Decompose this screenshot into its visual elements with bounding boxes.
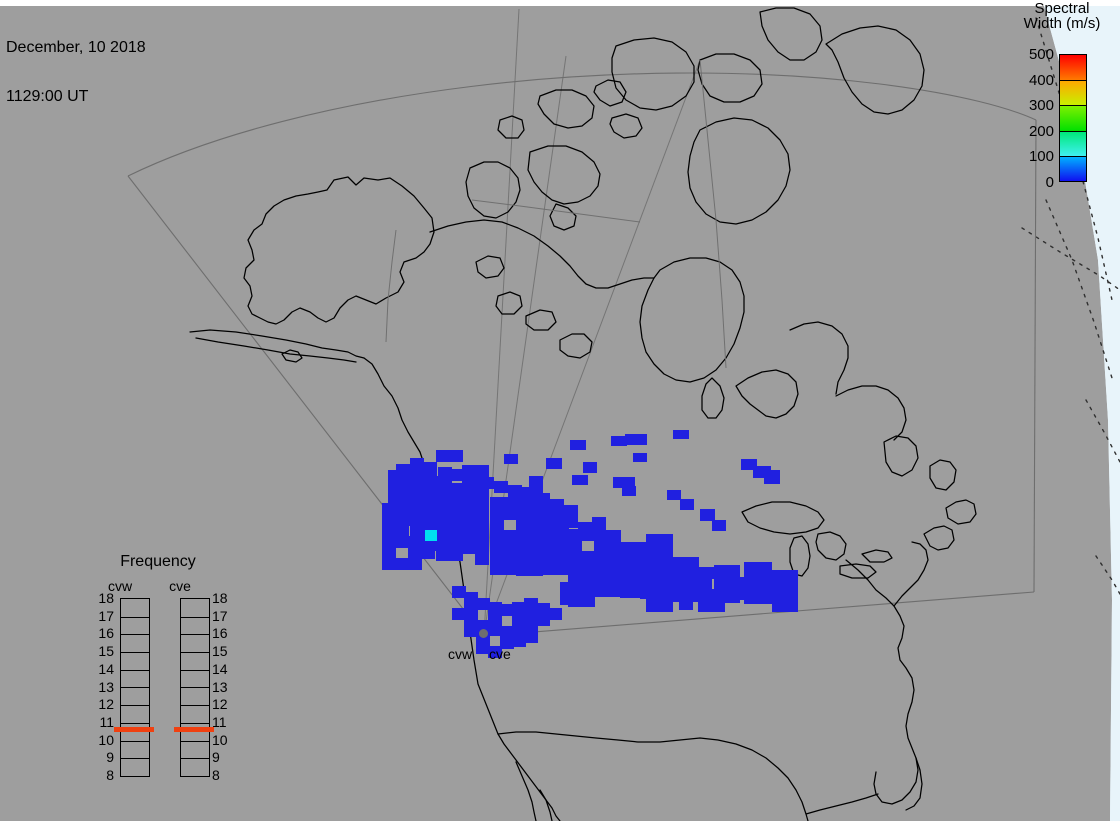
radar-data-cell [410, 469, 424, 481]
radar-data-cell [555, 530, 569, 542]
radar-data-cell [570, 440, 586, 450]
radar-data-cell [698, 578, 712, 590]
radar-data-cell [578, 522, 592, 534]
radar-data-cell [382, 558, 396, 570]
frequency-tick-16: 16 [88, 626, 114, 640]
radar-data-cell [516, 553, 530, 565]
radar-data-cell [500, 626, 514, 638]
radar-data-cell [620, 564, 634, 576]
radar-data-cell [475, 542, 489, 554]
radar-data-cell [667, 490, 681, 500]
radar-data-cell [382, 514, 396, 526]
radar-data-cell [679, 587, 693, 599]
radar-data-cell [452, 608, 466, 620]
colorbar-segment-0-100 [1060, 156, 1086, 181]
radar-data-cell [449, 494, 463, 506]
radar-data-cell [462, 531, 476, 543]
radar-data-cell [421, 503, 435, 515]
radar-data-cell [449, 549, 463, 561]
radar-data-cell [524, 598, 538, 610]
frequency-cell [181, 670, 209, 688]
radar-data-cell [673, 430, 689, 439]
radar-data-cell [424, 476, 438, 488]
radar-data-cell [490, 497, 504, 509]
radar-data-cell [555, 541, 569, 553]
radar-data-cell [410, 458, 424, 470]
radar-data-cell [494, 481, 508, 493]
radar-data-cell [410, 517, 424, 529]
radar-data-cell [625, 434, 647, 445]
radar-data-cell [436, 505, 450, 517]
radar-data-cell [449, 527, 463, 539]
radar-data-cell [546, 458, 562, 469]
radar-data-cell [503, 541, 517, 553]
radar-data-cell [396, 464, 410, 476]
frequency-cell [121, 599, 149, 617]
radar-data-cell [542, 530, 556, 542]
radar-data-cell [480, 477, 494, 489]
radar-data-cell [490, 552, 504, 564]
radar-data-cell [408, 547, 422, 559]
colorbar-tick-200: 200 [1004, 124, 1054, 139]
radar-data-cell [640, 587, 654, 599]
frequency-cell [121, 652, 149, 670]
radar-data-cell [712, 520, 726, 531]
radar-data-cell [490, 563, 504, 575]
frequency-tick-11: 11 [88, 715, 114, 729]
radar-data-cell [516, 520, 530, 532]
colorbar-segment-300-400 [1060, 80, 1086, 105]
colorbar-segment-100-200 [1060, 131, 1086, 156]
frequency-cell [181, 741, 209, 759]
radar-data-cell [395, 492, 409, 504]
radar-data-cell [542, 552, 556, 564]
radar-data-cell [594, 541, 608, 553]
frequency-tick-17: 17 [88, 609, 114, 623]
radar-data-cell [653, 598, 667, 610]
radar-data-cell [529, 531, 543, 543]
colorbar-tick-100: 100 [1004, 149, 1054, 164]
radar-data-cell [607, 541, 621, 553]
radar-data-cell [536, 504, 550, 516]
radar-data-cell [592, 528, 606, 540]
radar-data-cell [382, 536, 396, 548]
radar-data-cell [503, 508, 517, 520]
radar-data-cell [475, 498, 489, 510]
radar-site-dot [479, 629, 488, 638]
radar-data-cell [536, 614, 550, 626]
frequency-tick-14: 14 [88, 662, 114, 676]
radar-data-cell [698, 567, 712, 579]
radar-data-cell [503, 563, 517, 575]
radar-data-cell [594, 585, 608, 597]
frequency-tick-15: 15 [212, 644, 238, 658]
frequency-legend-panel: Frequency cvw cve 18171615141312111098 1… [78, 553, 238, 791]
radar-data-cell [382, 503, 396, 515]
radar-data-cell [395, 558, 409, 570]
frequency-ticks-right: 18171615141312111098 [212, 598, 238, 775]
frequency-tick-9: 9 [212, 750, 238, 764]
colorbar-segment-400-500 [1060, 55, 1086, 80]
radar-data-cell [572, 475, 588, 485]
radar-data-cell [633, 553, 647, 565]
radar-data-cell [512, 624, 526, 636]
radar-data-cell [476, 598, 490, 610]
radar-data-cell [564, 505, 578, 517]
radar-data-cell [462, 509, 476, 521]
radar-data-cell [659, 556, 673, 568]
frequency-tick-9: 9 [88, 750, 114, 764]
radar-data-cell [581, 551, 595, 563]
radar-data-cell [503, 530, 517, 542]
radar-data-cell [646, 556, 660, 568]
frequency-cell [121, 741, 149, 759]
radar-data-cell [633, 564, 647, 576]
frequency-tick-13: 13 [212, 680, 238, 694]
radar-data-cell [503, 552, 517, 564]
radar-data-cell [423, 517, 437, 529]
radar-data-cell [698, 600, 712, 612]
radar-data-cell [620, 542, 634, 554]
radar-data-cell [438, 478, 452, 490]
radar-data-cell [679, 598, 693, 610]
radar-data-cell [560, 582, 574, 594]
radar-data-cell [679, 576, 693, 588]
timestamp-time: 1129:00 UT [6, 89, 146, 105]
radar-data-cell [607, 552, 621, 564]
frequency-cell [181, 617, 209, 635]
colorbar-tick-500: 500 [1004, 47, 1054, 62]
frequency-cell [121, 617, 149, 635]
radar-data-cell [464, 592, 478, 604]
radar-data-cell [436, 450, 450, 462]
colorbar-gradient-bar [1059, 54, 1087, 182]
radar-data-cell [522, 489, 536, 501]
radar-data-cell [633, 542, 647, 554]
radar-data-cell [672, 557, 686, 569]
radar-data-cell [594, 563, 608, 575]
radar-data-cell [476, 642, 490, 654]
radar-data-cell [462, 542, 476, 554]
radar-data-cell [524, 609, 538, 621]
frequency-tick-8: 8 [88, 768, 114, 782]
colorbar-title-line1: Spectral [1004, 1, 1120, 16]
radar-data-cell [408, 503, 422, 515]
radar-data-cell [633, 453, 647, 462]
frequency-cell [181, 758, 209, 776]
radar-data-cell [607, 574, 621, 586]
radar-data-cell [666, 587, 680, 599]
frequency-ticks-left: 18171615141312111098 [88, 598, 114, 775]
radar-data-cell [542, 541, 556, 553]
radar-data-cell [395, 514, 409, 526]
radar-data-cell [594, 552, 608, 564]
frequency-cell [181, 705, 209, 723]
radar-data-cell [475, 531, 489, 543]
radar-data-cell [464, 603, 478, 615]
radar-data-cell [594, 574, 608, 586]
radar-data-cell [466, 473, 480, 485]
radar-data-cell [607, 585, 621, 597]
frequency-column-header-cve: cve [157, 578, 203, 594]
radar-data-cell [653, 587, 667, 599]
radar-data-cell [395, 525, 409, 537]
frequency-cell [121, 705, 149, 723]
radar-data-cell [764, 470, 780, 484]
radar-data-cell [572, 589, 586, 601]
radar-data-cell [583, 462, 597, 473]
radar-data-cell [653, 576, 667, 588]
frequency-tick-13: 13 [88, 680, 114, 694]
radar-data-cell [449, 450, 463, 462]
radar-data-cell [529, 564, 543, 576]
radar-data-cell [524, 620, 538, 632]
radar-data-cell [436, 516, 450, 528]
radar-data-cell [490, 530, 504, 542]
radar-data-cell [568, 562, 582, 574]
colorbar-title-line2: Width (m/s) [1004, 16, 1120, 31]
radar-data-cell [516, 531, 530, 543]
radar-data-cell [504, 454, 518, 464]
radar-data-cell [449, 516, 463, 528]
radar-data-cell [529, 542, 543, 554]
radar-data-cell [516, 542, 530, 554]
radar-data-cell [490, 541, 504, 553]
frequency-tick-8: 8 [212, 768, 238, 782]
frequency-tick-18: 18 [212, 591, 238, 605]
radar-data-cell [508, 485, 522, 497]
frequency-gauge-cve [180, 598, 210, 777]
radar-data-cell [503, 497, 517, 509]
frequency-tick-15: 15 [88, 644, 114, 658]
radar-data-cell [529, 553, 543, 565]
frequency-tick-11: 11 [212, 715, 238, 729]
frequency-marker-cve [174, 727, 214, 732]
radar-data-cell [542, 563, 556, 575]
colorbar-title: Spectral Width (m/s) [1004, 1, 1120, 32]
radar-data-cell [550, 499, 564, 511]
radar-data-cell [466, 484, 480, 496]
frequency-cell [181, 634, 209, 652]
radar-data-cell [408, 492, 422, 504]
frequency-cell [181, 599, 209, 617]
radar-data-cell [568, 551, 582, 563]
timestamp-block: December, 10 2018 1129:00 UT [6, 7, 146, 138]
radar-data-cell [425, 530, 437, 541]
radar-data-cell [464, 614, 478, 626]
radar-data-cell [436, 494, 450, 506]
radar-data-cell [700, 509, 715, 521]
radar-data-cell [488, 624, 502, 636]
radar-data-cell [560, 593, 574, 605]
radar-data-cell [714, 565, 740, 603]
frequency-cell [121, 758, 149, 776]
radar-data-cell [680, 499, 694, 510]
radar-data-cell [607, 563, 621, 575]
radar-data-cell [449, 505, 463, 517]
radar-data-cell [436, 549, 450, 561]
radar-data-cell [452, 586, 466, 598]
frequency-tick-18: 18 [88, 591, 114, 605]
frequency-marker-cvw [114, 727, 154, 732]
radar-data-cell [490, 519, 504, 531]
frequency-tick-10: 10 [88, 733, 114, 747]
frequency-tick-12: 12 [212, 697, 238, 711]
radar-data-cell [410, 480, 424, 492]
radar-data-cell [607, 530, 621, 542]
radar-data-cell [620, 586, 634, 598]
radar-data-cell [475, 520, 489, 532]
radar-data-cell [620, 553, 634, 565]
colorbar-tick-labels: 5004003002001000 [1004, 44, 1054, 190]
radar-site-label-cvw: cvw [448, 646, 472, 662]
screenshot-root: December, 10 2018 1129:00 UT Spectral Wi… [0, 0, 1120, 821]
radar-data-cell [564, 516, 578, 528]
radar-data-cell [772, 570, 798, 612]
radar-data-cell [550, 510, 564, 522]
frequency-tick-10: 10 [212, 733, 238, 747]
radar-data-cell [421, 547, 435, 559]
colorbar-segment-200-300 [1060, 105, 1086, 130]
radar-data-cell [622, 486, 636, 496]
radar-data-cell [436, 538, 450, 550]
radar-data-cell [475, 509, 489, 521]
radar-data-cell [572, 578, 586, 590]
radar-data-cell [529, 520, 543, 532]
colorbar-panel: Spectral Width (m/s) 5004003002001000 [1004, 0, 1120, 200]
frequency-tick-17: 17 [212, 609, 238, 623]
radar-data-cell [488, 602, 502, 614]
frequency-cell [181, 652, 209, 670]
radar-data-cell [685, 557, 699, 569]
radar-data-cell [464, 625, 478, 637]
radar-site-label-cve: cve [489, 646, 511, 662]
radar-data-cell [452, 469, 466, 481]
frequency-tick-12: 12 [88, 697, 114, 711]
radar-data-cell [512, 635, 526, 647]
radar-data-cell [382, 525, 396, 537]
radar-data-cell [438, 467, 452, 479]
radar-data-cell [592, 517, 606, 529]
radar-data-cell [646, 534, 660, 546]
radar-data-cell [500, 604, 514, 616]
radar-data-cell [581, 562, 595, 574]
radar-data-cell [524, 631, 538, 643]
radar-data-cell [640, 576, 654, 588]
radar-data-cell [555, 563, 569, 575]
frequency-legend-title: Frequency [78, 553, 238, 571]
radar-data-cell [620, 575, 634, 587]
radar-data-cell [408, 558, 422, 570]
radar-data-cell [436, 527, 450, 539]
radar-data-cell [659, 534, 673, 546]
radar-data-cell [536, 603, 550, 615]
frequency-cell [121, 634, 149, 652]
radar-data-cell [488, 613, 502, 625]
radar-data-cell [659, 545, 673, 557]
radar-data-cell [646, 545, 660, 557]
colorbar-tick-0: 0 [1004, 175, 1054, 190]
radar-data-cell [516, 564, 530, 576]
radar-data-cell [666, 576, 680, 588]
radar-data-cell [449, 538, 463, 550]
radar-data-cell [512, 602, 526, 614]
radar-data-cell [548, 608, 562, 620]
frequency-cell [121, 670, 149, 688]
radar-data-cell [512, 613, 526, 625]
radar-data-cell [462, 520, 476, 532]
radar-data-cell [744, 562, 772, 604]
radar-data-cell [529, 476, 543, 488]
colorbar-tick-300: 300 [1004, 98, 1054, 113]
radar-data-cell [568, 540, 582, 552]
radar-data-cell [475, 553, 489, 565]
radar-data-cell [462, 498, 476, 510]
radar-data-cell [408, 536, 422, 548]
radar-data-cell [611, 436, 627, 446]
radar-data-cell [382, 547, 396, 559]
radar-data-cell [698, 589, 712, 601]
radar-data-cell [421, 492, 435, 504]
frequency-tick-16: 16 [212, 626, 238, 640]
colorbar-tick-400: 400 [1004, 73, 1054, 88]
radar-data-cell [536, 493, 550, 505]
radar-data-cell [423, 462, 437, 474]
frequency-gauge-cvw [120, 598, 150, 777]
radar-data-cell [490, 508, 504, 520]
frequency-cell [121, 687, 149, 705]
frequency-cell [181, 687, 209, 705]
frequency-tick-14: 14 [212, 662, 238, 676]
radar-data-cell [516, 509, 530, 521]
timestamp-date: December, 10 2018 [6, 40, 146, 56]
radar-data-cell [555, 552, 569, 564]
